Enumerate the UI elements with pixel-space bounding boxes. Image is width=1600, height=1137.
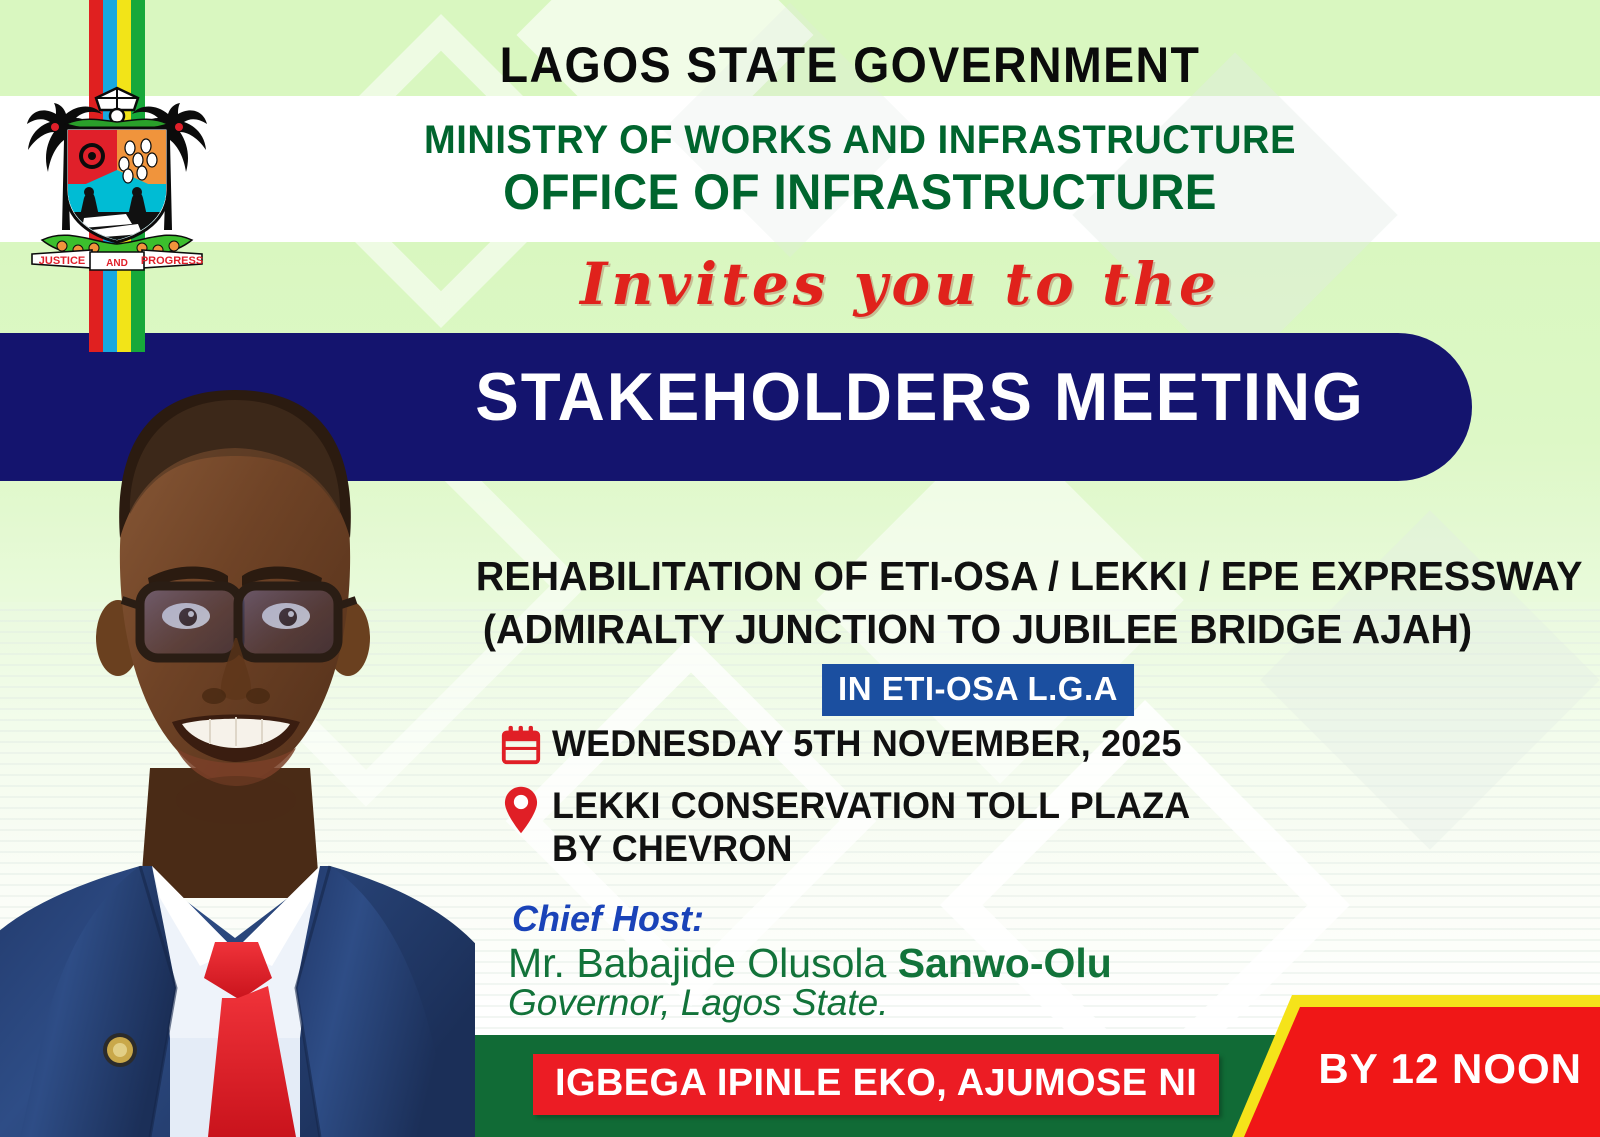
- governor-portrait-photo: [0, 338, 475, 1137]
- calendar-icon: [490, 723, 552, 767]
- invitation-script-text: Invites you to the: [330, 250, 1470, 318]
- date-row: WEDNESDAY 5TH NOVEMBER, 2025: [490, 723, 1201, 767]
- stakeholders-meeting-title: STAKEHOLDERS MEETING: [440, 358, 1400, 436]
- venue-line-1: LEKKI CONSERVATION TOLL PLAZA: [552, 785, 1190, 826]
- government-title: LAGOS STATE GOVERNMENT: [273, 36, 1426, 94]
- venue-row: LEKKI CONSERVATION TOLL PLAZA BY CHEVRON: [490, 785, 1210, 871]
- event-venue: LEKKI CONSERVATION TOLL PLAZA BY CHEVRON: [552, 785, 1190, 871]
- lagos-state-coat-of-arms-icon: JUSTICE AND PROGRESS: [22, 72, 212, 272]
- chief-host-label: Chief Host:: [512, 898, 704, 940]
- lga-badge: IN ETI-OSA L.G.A: [822, 664, 1134, 716]
- coat-motto-and: AND: [106, 258, 128, 269]
- flyer-canvas: JUSTICE AND PROGRESS LAGOS STATE GOVERNM…: [0, 0, 1600, 1137]
- ministry-title: MINISTRY OF WORKS AND INFRASTRUCTURE: [262, 118, 1459, 163]
- coat-motto-progress: PROGRESS: [141, 255, 203, 267]
- event-date: WEDNESDAY 5TH NOVEMBER, 2025: [552, 723, 1182, 766]
- project-title-line-1: REHABILITATION OF ETI-OSA / LEKKI / EPE …: [476, 553, 1479, 600]
- coat-motto-justice: JUSTICE: [39, 255, 85, 267]
- time-label: BY 12 NOON: [1318, 1045, 1582, 1093]
- venue-line-2: BY CHEVRON: [552, 828, 793, 869]
- project-title-line-2: (ADMIRALTY JUNCTION TO JUBILEE BRIDGE AJ…: [476, 606, 1479, 653]
- host-name-surname: Sanwo-Olu: [898, 940, 1112, 986]
- chief-host-name: Mr. Babajide Olusola Sanwo-Olu: [508, 940, 1112, 987]
- location-pin-icon: [490, 785, 552, 835]
- chief-host-role: Governor, Lagos State.: [508, 982, 889, 1024]
- slogan-badge: IGBEGA IPINLE EKO, AJUMOSE NI: [533, 1054, 1219, 1115]
- office-title: OFFICE OF INFRASTRUCTURE: [262, 163, 1459, 221]
- host-name-prefix: Mr. Babajide Olusola: [508, 940, 898, 986]
